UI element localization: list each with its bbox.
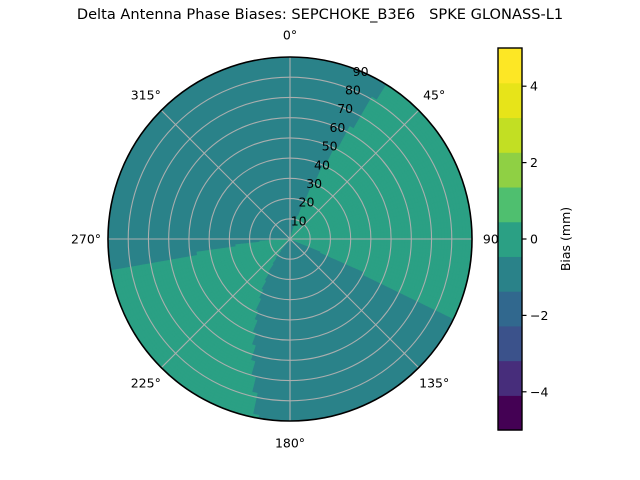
- figure-canvas: Delta Antenna Phase Biases: SEPCHOKE_B3E…: [0, 0, 640, 480]
- colorbar-segment: [498, 291, 522, 326]
- theta-tick-label-180: 180°: [275, 436, 305, 451]
- theta-tick-label-225: 225°: [131, 376, 161, 391]
- colorbar-axis-label: Bias (mm): [558, 207, 573, 271]
- theta-tick-label-0: 0°: [283, 28, 297, 43]
- contour-band-positive: [414, 239, 417, 243]
- contour-band-positive: [414, 235, 417, 239]
- contour-band-positive: [275, 240, 278, 241]
- colorbar-tick-label: −4: [530, 384, 548, 399]
- radial-tick-label-20: 20: [299, 195, 315, 210]
- contour-band-positive: [448, 233, 451, 239]
- chart-title: Delta Antenna Phase Biases: SEPCHOKE_B3E…: [0, 6, 640, 23]
- radial-tick-label-60: 60: [329, 120, 345, 135]
- colorbar-segment: [498, 187, 522, 222]
- contour-band-positive: [466, 239, 469, 245]
- contour-band-positive: [420, 234, 423, 239]
- contour-band-positive: [445, 239, 448, 245]
- radial-tick-label-30: 30: [306, 176, 322, 191]
- contour-band-positive: [399, 235, 402, 239]
- contour-band-positive: [432, 239, 435, 244]
- contour-band-positive: [417, 239, 420, 244]
- contour-band-positive: [423, 239, 426, 244]
- colorbar-segment: [498, 83, 522, 118]
- contour-band-positive: [402, 239, 405, 243]
- colorbar-tick-label: 0: [530, 232, 538, 247]
- colorbar-segment: [498, 326, 522, 361]
- contour-band-positive: [426, 234, 429, 239]
- polar-contour-plot: 0°45°90°135°180°225°270°315° 10203040506…: [0, 0, 640, 480]
- contour-band-positive: [466, 233, 469, 239]
- contour-band-positive: [420, 239, 423, 244]
- contour-band-positive: [454, 239, 457, 245]
- contour-band-positive: [260, 241, 263, 242]
- radial-tick-label-40: 40: [314, 157, 330, 172]
- contour-band-positive: [402, 235, 405, 239]
- contour-band-positive: [393, 235, 396, 239]
- contour-band-positive: [436, 234, 439, 239]
- colorbar-segment: [498, 152, 522, 187]
- theta-tick-label-45: 45°: [423, 87, 445, 102]
- contour-band-positive: [417, 234, 420, 239]
- contour-band-positive: [439, 239, 442, 244]
- contour-band-positive: [396, 235, 399, 239]
- colorbar-segment: [498, 117, 522, 152]
- contour-band-positive: [263, 241, 266, 242]
- colorbar: 420−2−4Bias (mm): [498, 48, 573, 431]
- contour-band-positive: [393, 239, 396, 243]
- contour-band-positive: [442, 234, 445, 239]
- radial-tick-label-90: 90: [353, 64, 369, 79]
- contour-band-positive: [278, 240, 281, 241]
- contour-band-positive: [436, 239, 439, 244]
- colorbar-tick-label: −2: [530, 308, 548, 323]
- colorbar-segment: [498, 361, 522, 396]
- contour-band-positive: [460, 233, 463, 239]
- radial-tick-label-50: 50: [322, 139, 338, 154]
- contour-band-positive: [426, 239, 429, 244]
- contour-band-positive: [423, 234, 426, 239]
- colorbar-segment: [498, 48, 522, 83]
- contour-band-positive: [463, 239, 466, 245]
- radial-tick-label-80: 80: [345, 83, 361, 98]
- contour-band-positive: [405, 239, 408, 243]
- contour-band-positive: [457, 239, 460, 245]
- colorbar-tick-label: 2: [530, 155, 538, 170]
- contour-band-positive: [399, 239, 402, 243]
- contour-band-positive: [405, 235, 408, 239]
- colorbar-tick-label: 4: [530, 79, 538, 94]
- theta-tick-label-270: 270°: [71, 232, 101, 247]
- contour-band-positive: [460, 239, 463, 245]
- polar-grid-layer: [108, 57, 472, 421]
- contour-band-positive: [266, 240, 269, 241]
- colorbar-segment: [498, 395, 522, 430]
- contour-band-positive: [448, 239, 451, 245]
- contour-band-positive: [257, 242, 260, 243]
- contour-band-positive: [445, 234, 448, 240]
- contour-band-positive: [396, 239, 399, 243]
- contour-band-positive: [439, 234, 442, 239]
- theta-tick-label-135: 135°: [419, 376, 449, 391]
- contour-band-positive: [272, 240, 275, 241]
- contour-band-positive: [463, 233, 466, 239]
- contour-band-positive: [442, 239, 445, 244]
- contour-band-positive: [432, 234, 435, 239]
- radial-tick-label-10: 10: [291, 213, 307, 228]
- contour-band-positive: [457, 233, 460, 239]
- contour-band-positive: [197, 252, 201, 256]
- radial-tick-label-70: 70: [337, 101, 353, 116]
- colorbar-segment: [498, 222, 522, 257]
- contour-band-positive: [454, 233, 457, 239]
- theta-tick-label-315: 315°: [131, 87, 161, 102]
- colorbar-segment: [498, 256, 522, 291]
